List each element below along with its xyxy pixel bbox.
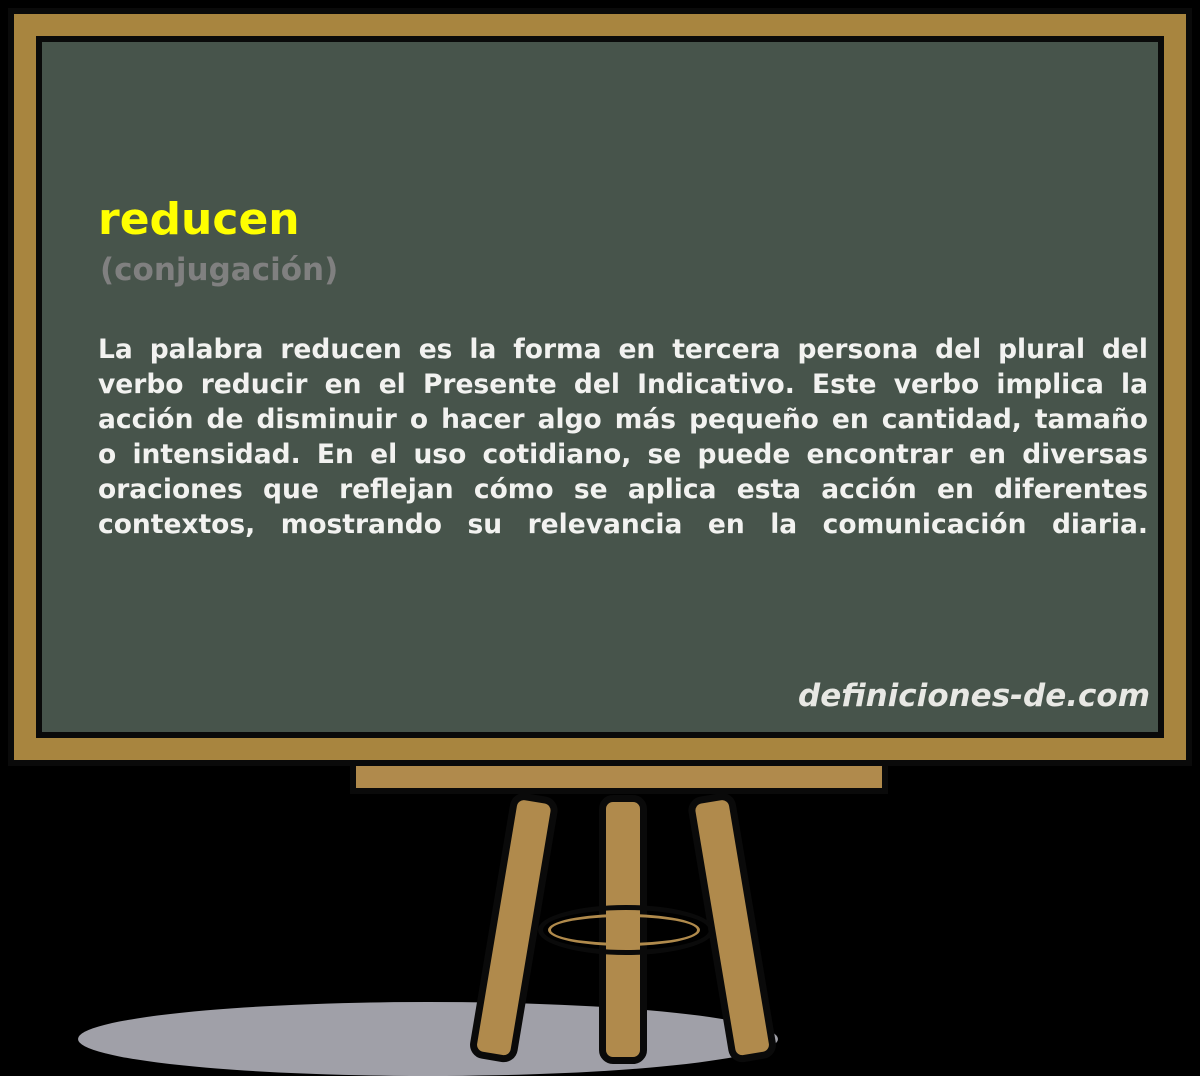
definition-paragraph: La palabra reducen es la forma en tercer…: [98, 332, 1148, 577]
page-title: reducen: [98, 197, 300, 243]
chalkboard-frame: reducen (conjugación) La palabra reducen…: [8, 8, 1192, 766]
floor-shadow-ellipse: [78, 1002, 778, 1076]
chalkboard-content: reducen (conjugación) La palabra reducen…: [42, 42, 1158, 732]
site-watermark: definiciones-de.com: [798, 678, 1150, 714]
chalkboard-surface: reducen (conjugación) La palabra reducen…: [36, 36, 1164, 738]
easel-hoop-ring-inner: [548, 914, 700, 946]
page-subtitle: (conjugación): [100, 254, 338, 287]
illustration-canvas: reducen (conjugación) La palabra reducen…: [0, 0, 1200, 1056]
